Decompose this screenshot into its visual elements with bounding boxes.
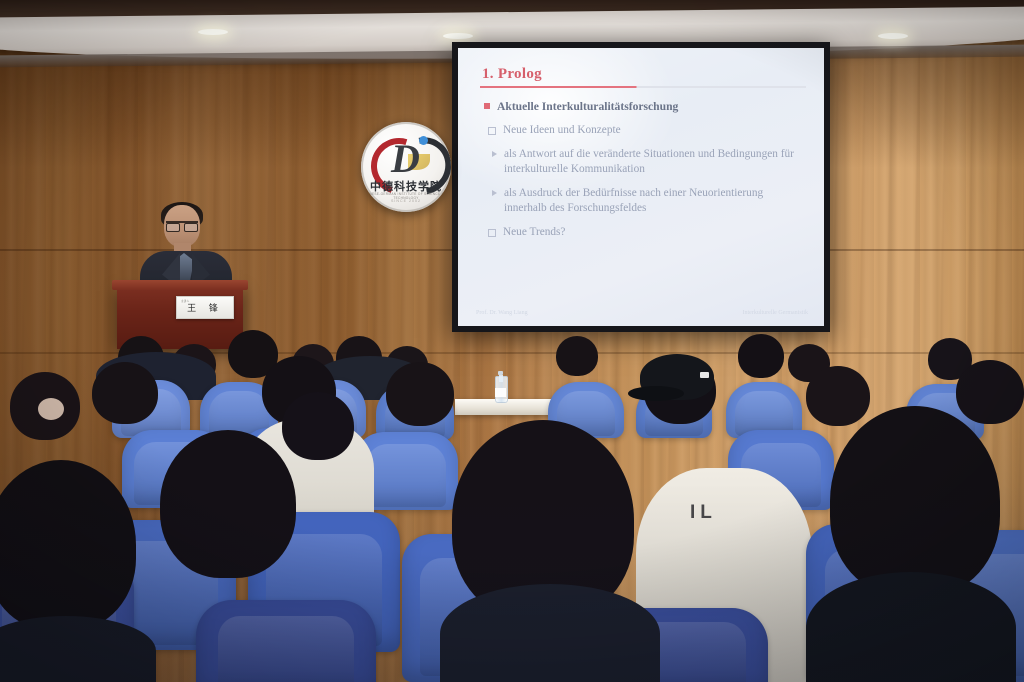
projection-screen: 1. Prolog Aktuelle Interkulturalitätsfor…	[458, 48, 824, 326]
audience-head	[556, 336, 598, 376]
slide-bullet: als Ausdruck der Bedürfnisse nach einer …	[492, 186, 806, 217]
slide-bullet-text: Neue Trends?	[503, 225, 565, 241]
audience-head	[738, 334, 784, 378]
slide-bullet-text: als Antwort auf die veränderte Situation…	[504, 147, 806, 178]
logo-blue-dot-icon	[419, 136, 428, 145]
audience-head	[386, 362, 454, 426]
cap-label-tag	[700, 372, 709, 378]
lecture-hall-photo: 1. Prolog Aktuelle Interkulturalitätsfor…	[0, 0, 1024, 682]
audience-head	[830, 406, 1000, 596]
logo-letter-d: D	[391, 139, 420, 179]
jacket-back-text: IL	[690, 502, 717, 524]
cap-brim	[628, 386, 684, 401]
podium-nameplate: 主讲人 王 锋	[176, 296, 234, 319]
bottle-label	[495, 388, 506, 397]
slide-bullet: Neue Trends?	[488, 225, 806, 241]
downlight-icon	[878, 33, 908, 39]
audience-head	[160, 430, 296, 578]
slide-footer: Prof. Dr. Wang Liang Interkulturelle Ger…	[476, 310, 808, 316]
bullet-square-hollow-icon	[488, 127, 496, 135]
audience-head	[806, 366, 870, 426]
slide-bullet: Neue Ideen und Konzepte	[488, 123, 806, 139]
audience-shoulders	[440, 584, 660, 682]
college-logo: D 中德科技学院 CHINESE-GERMAN INSTITUTE OF SCI…	[361, 122, 451, 212]
bullet-square-filled-icon	[484, 103, 490, 109]
nameplate-text: 王 锋	[187, 301, 223, 314]
bullet-triangle-icon	[492, 151, 497, 157]
audience-head	[92, 362, 158, 424]
audience-head	[282, 392, 354, 460]
water-bottle	[495, 371, 506, 403]
slide-title-rule	[480, 86, 806, 88]
podium-top-surface	[112, 280, 248, 290]
slide-bullet: als Antwort auf die veränderte Situation…	[492, 147, 806, 178]
slide-title: 1. Prolog	[482, 66, 806, 83]
bottle-neck	[499, 375, 503, 382]
nameplate-subtitle: 主讲人	[181, 299, 189, 303]
logo-since-text: SINCE 2002	[361, 199, 451, 203]
auditorium-seat	[196, 600, 376, 682]
projection-screen-frame: 1. Prolog Aktuelle Interkulturalitätsfor…	[452, 42, 830, 332]
slide-footer-right: Interkulturelle Germanistik	[743, 310, 808, 316]
audience-hair-bun	[38, 398, 64, 420]
slide-bullet: Aktuelle Interkulturalitätsforschung	[484, 99, 806, 115]
audience-shoulders	[806, 572, 1016, 682]
slide-bullet-text: Aktuelle Interkulturalitätsforschung	[497, 99, 678, 115]
downlight-icon	[443, 33, 473, 39]
bottle-cap	[498, 371, 503, 375]
slide-bullet-text: Neue Ideen und Konzepte	[503, 123, 621, 139]
bullet-triangle-icon	[492, 190, 497, 196]
glasses-icon	[166, 221, 198, 231]
slide-bullet-text: als Ausdruck der Bedürfnisse nach einer …	[504, 186, 806, 217]
slide-footer-left: Prof. Dr. Wang Liang	[476, 310, 528, 316]
bullet-square-hollow-icon	[488, 229, 496, 237]
presentation-slide: 1. Prolog Aktuelle Interkulturalitätsfor…	[458, 48, 824, 326]
downlight-icon	[198, 29, 228, 35]
audience-head	[956, 360, 1024, 424]
